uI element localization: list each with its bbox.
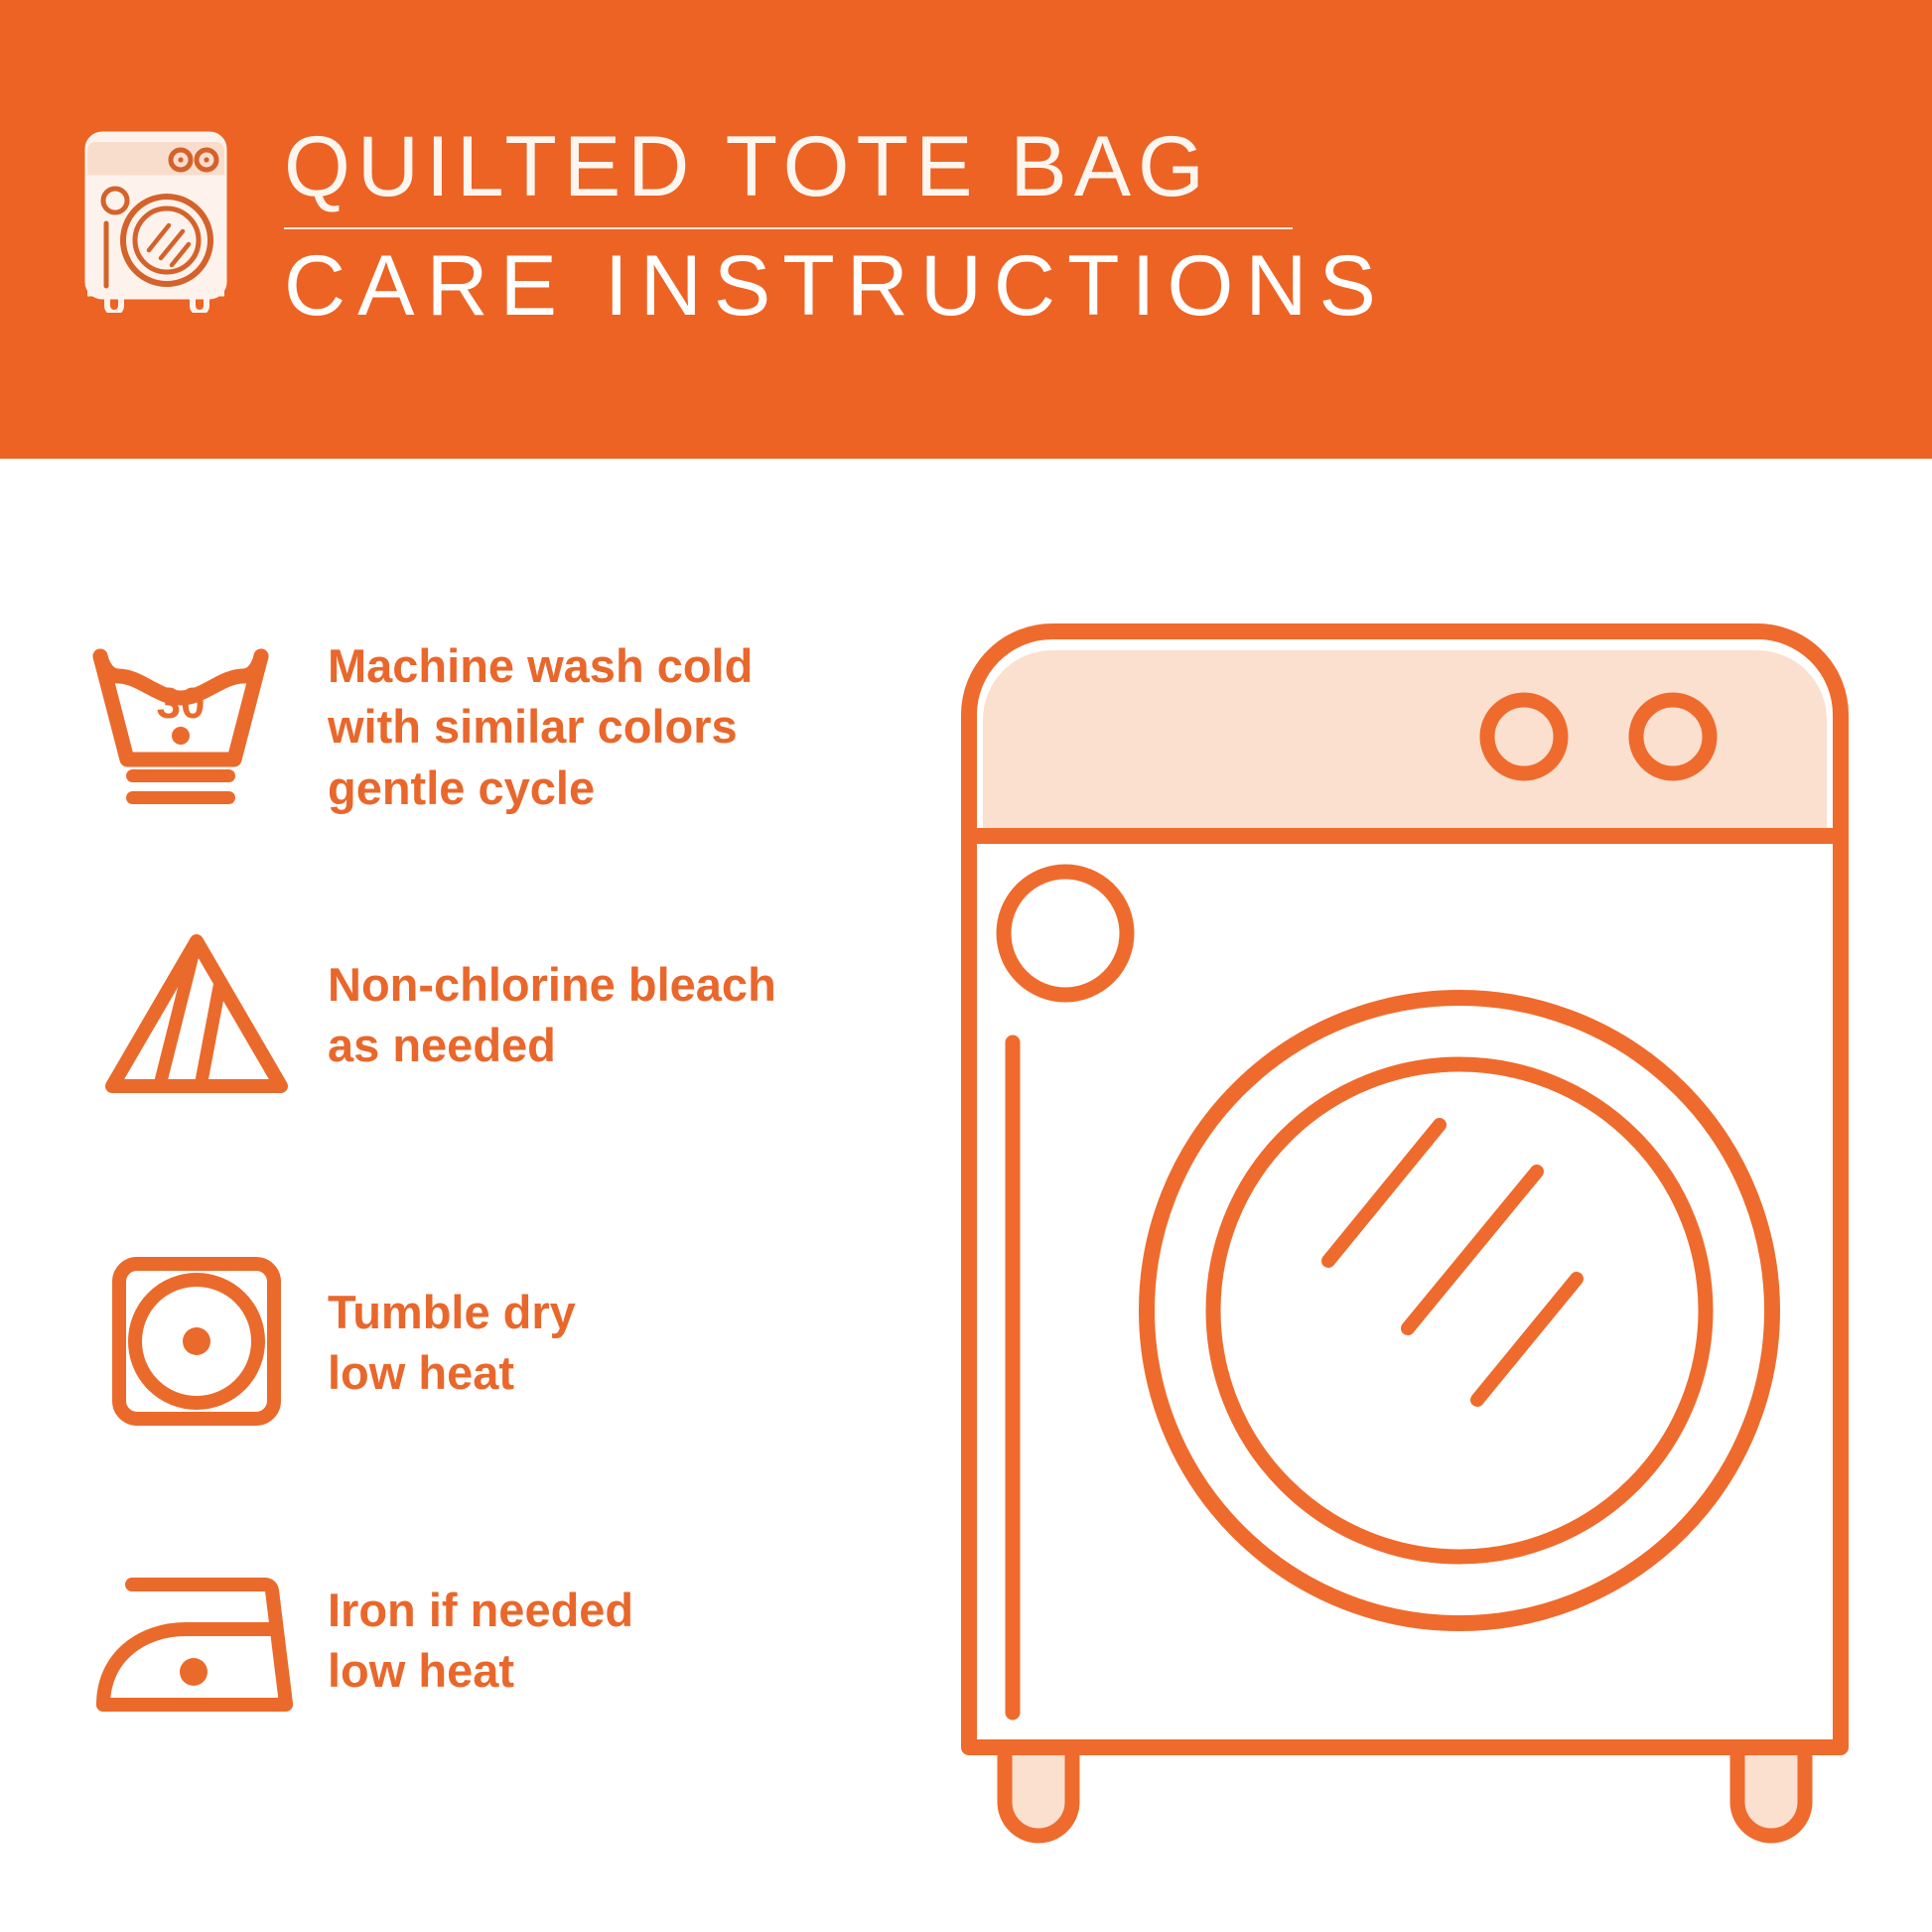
care-instructions-infographic: QUILTED TOTE BAG CARE INSTRUCTIONS 30 Ma… xyxy=(0,0,1932,1932)
leg-left xyxy=(1005,1747,1072,1836)
care-label-line: Iron if needed xyxy=(328,1580,633,1640)
wash-temperature-value: 30 xyxy=(157,679,206,728)
knob-right xyxy=(1636,700,1710,773)
care-item-tumble-dry: Tumble dry low heat xyxy=(0,1243,913,1442)
care-item-wash-label: Machine wash cold with similar colors ge… xyxy=(328,635,753,817)
care-item-iron: Iron if needed low heat xyxy=(0,1541,913,1739)
tumble-dry-low-heat-icon xyxy=(77,1243,316,1442)
knob-left xyxy=(1487,700,1561,773)
care-label-line: low heat xyxy=(328,1640,633,1701)
non-chlorine-bleach-triangle-icon xyxy=(77,915,316,1114)
page-subtitle: CARE INSTRUCTIONS xyxy=(284,243,1297,331)
leg-right xyxy=(1737,1747,1805,1836)
care-label-line: with similar colors xyxy=(328,696,753,757)
care-item-bleach: Non-chlorine bleach as needed xyxy=(0,915,913,1114)
header-title-block: QUILTED TOTE BAG CARE INSTRUCTIONS xyxy=(284,124,1297,330)
care-item-bleach-label: Non-chlorine bleach as needed xyxy=(328,954,776,1075)
care-label-line: Machine wash cold xyxy=(328,635,753,696)
care-item-tumble-dry-label: Tumble dry low heat xyxy=(328,1282,576,1403)
care-instructions-list: 30 Machine wash cold with similar colors… xyxy=(0,459,913,1932)
care-label-line: gentle cycle xyxy=(328,758,753,818)
title-divider xyxy=(284,227,1293,229)
care-label-line: Tumble dry xyxy=(328,1282,576,1342)
header-banner: QUILTED TOTE BAG CARE INSTRUCTIONS xyxy=(0,0,1932,459)
care-item-wash: 30 Machine wash cold with similar colors… xyxy=(0,627,913,826)
care-item-iron-label: Iron if needed low heat xyxy=(328,1580,633,1701)
wash-tub-30-gentle-icon: 30 xyxy=(77,627,316,826)
washing-machine-illustration xyxy=(953,616,1896,1866)
washing-machine-icon xyxy=(81,129,230,313)
care-label-line: as needed xyxy=(328,1015,776,1075)
care-label-line: Non-chlorine bleach xyxy=(328,954,776,1015)
iron-low-heat-icon xyxy=(77,1541,316,1739)
care-label-line: low heat xyxy=(328,1342,576,1403)
page-title: QUILTED TOTE BAG xyxy=(284,124,1297,211)
